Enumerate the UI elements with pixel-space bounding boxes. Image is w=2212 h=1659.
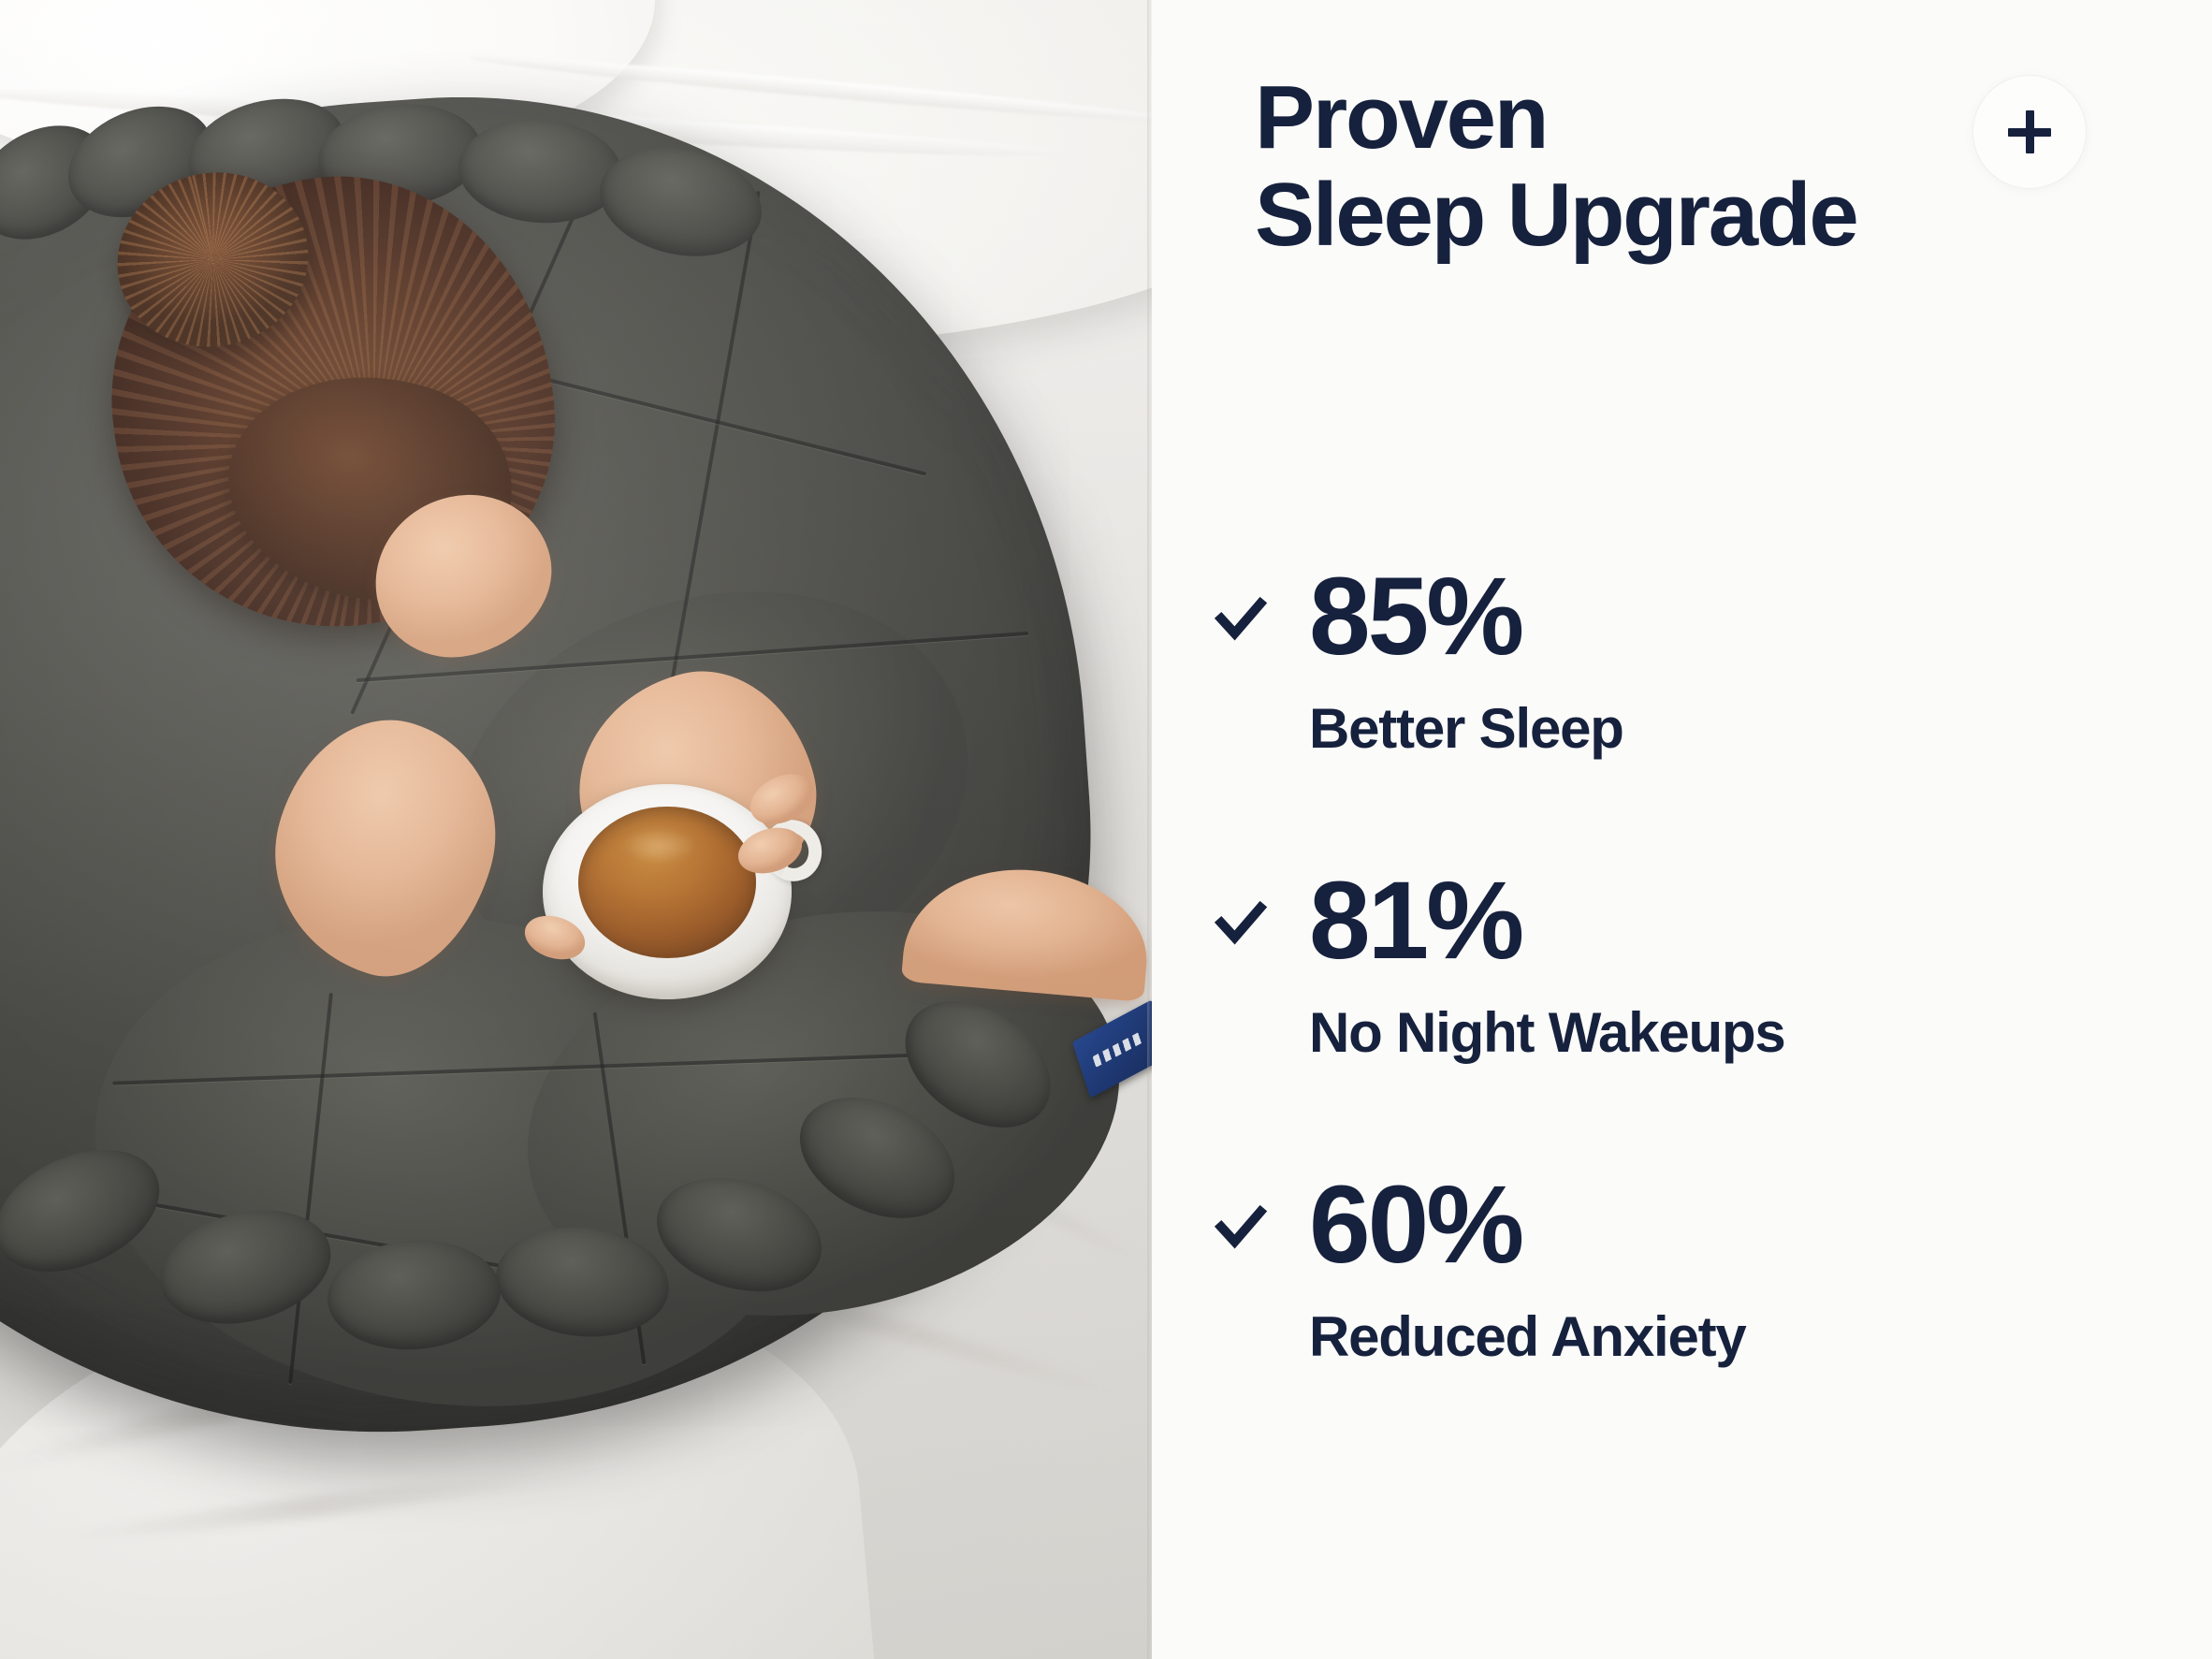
product-lifestyle-photo — [0, 0, 1152, 1659]
stat-row: 81% — [1204, 866, 2212, 976]
stat-row: 60% — [1204, 1170, 2212, 1280]
stat-label: Reduced Anxiety — [1309, 1304, 2212, 1369]
expand-button[interactable] — [1972, 75, 2087, 189]
page-title: Proven Sleep Upgrade — [1255, 69, 2059, 263]
stat-item: 85% Better Sleep — [1204, 561, 2212, 761]
brand-tag-logo-icon — [1093, 1031, 1144, 1068]
stat-row: 85% — [1204, 561, 2212, 672]
check-icon — [1204, 580, 1277, 653]
check-icon — [1204, 1188, 1277, 1261]
stat-value: 60% — [1309, 1170, 1521, 1280]
ad-creative-root: Proven Sleep Upgrade 85% Better Sleep — [0, 0, 2212, 1659]
stat-item: 60% Reduced Anxiety — [1204, 1170, 2212, 1369]
tea-highlight — [608, 822, 711, 870]
stat-label: No Night Wakeups — [1309, 1000, 2212, 1065]
headline-line-2: Sleep Upgrade — [1255, 167, 2059, 264]
stat-value: 85% — [1309, 561, 1521, 672]
info-panel: Proven Sleep Upgrade 85% Better Sleep — [1152, 0, 2212, 1659]
check-icon — [1204, 884, 1277, 957]
stat-value: 81% — [1309, 866, 1521, 976]
stat-item: 81% No Night Wakeups — [1204, 866, 2212, 1065]
stat-label: Better Sleep — [1309, 696, 2212, 761]
plus-icon — [2008, 110, 2051, 153]
stats-list: 85% Better Sleep 81% No Night Wakeups — [1152, 561, 2212, 1369]
headline-line-1: Proven — [1255, 69, 2059, 167]
photo-stage — [0, 0, 1152, 1659]
